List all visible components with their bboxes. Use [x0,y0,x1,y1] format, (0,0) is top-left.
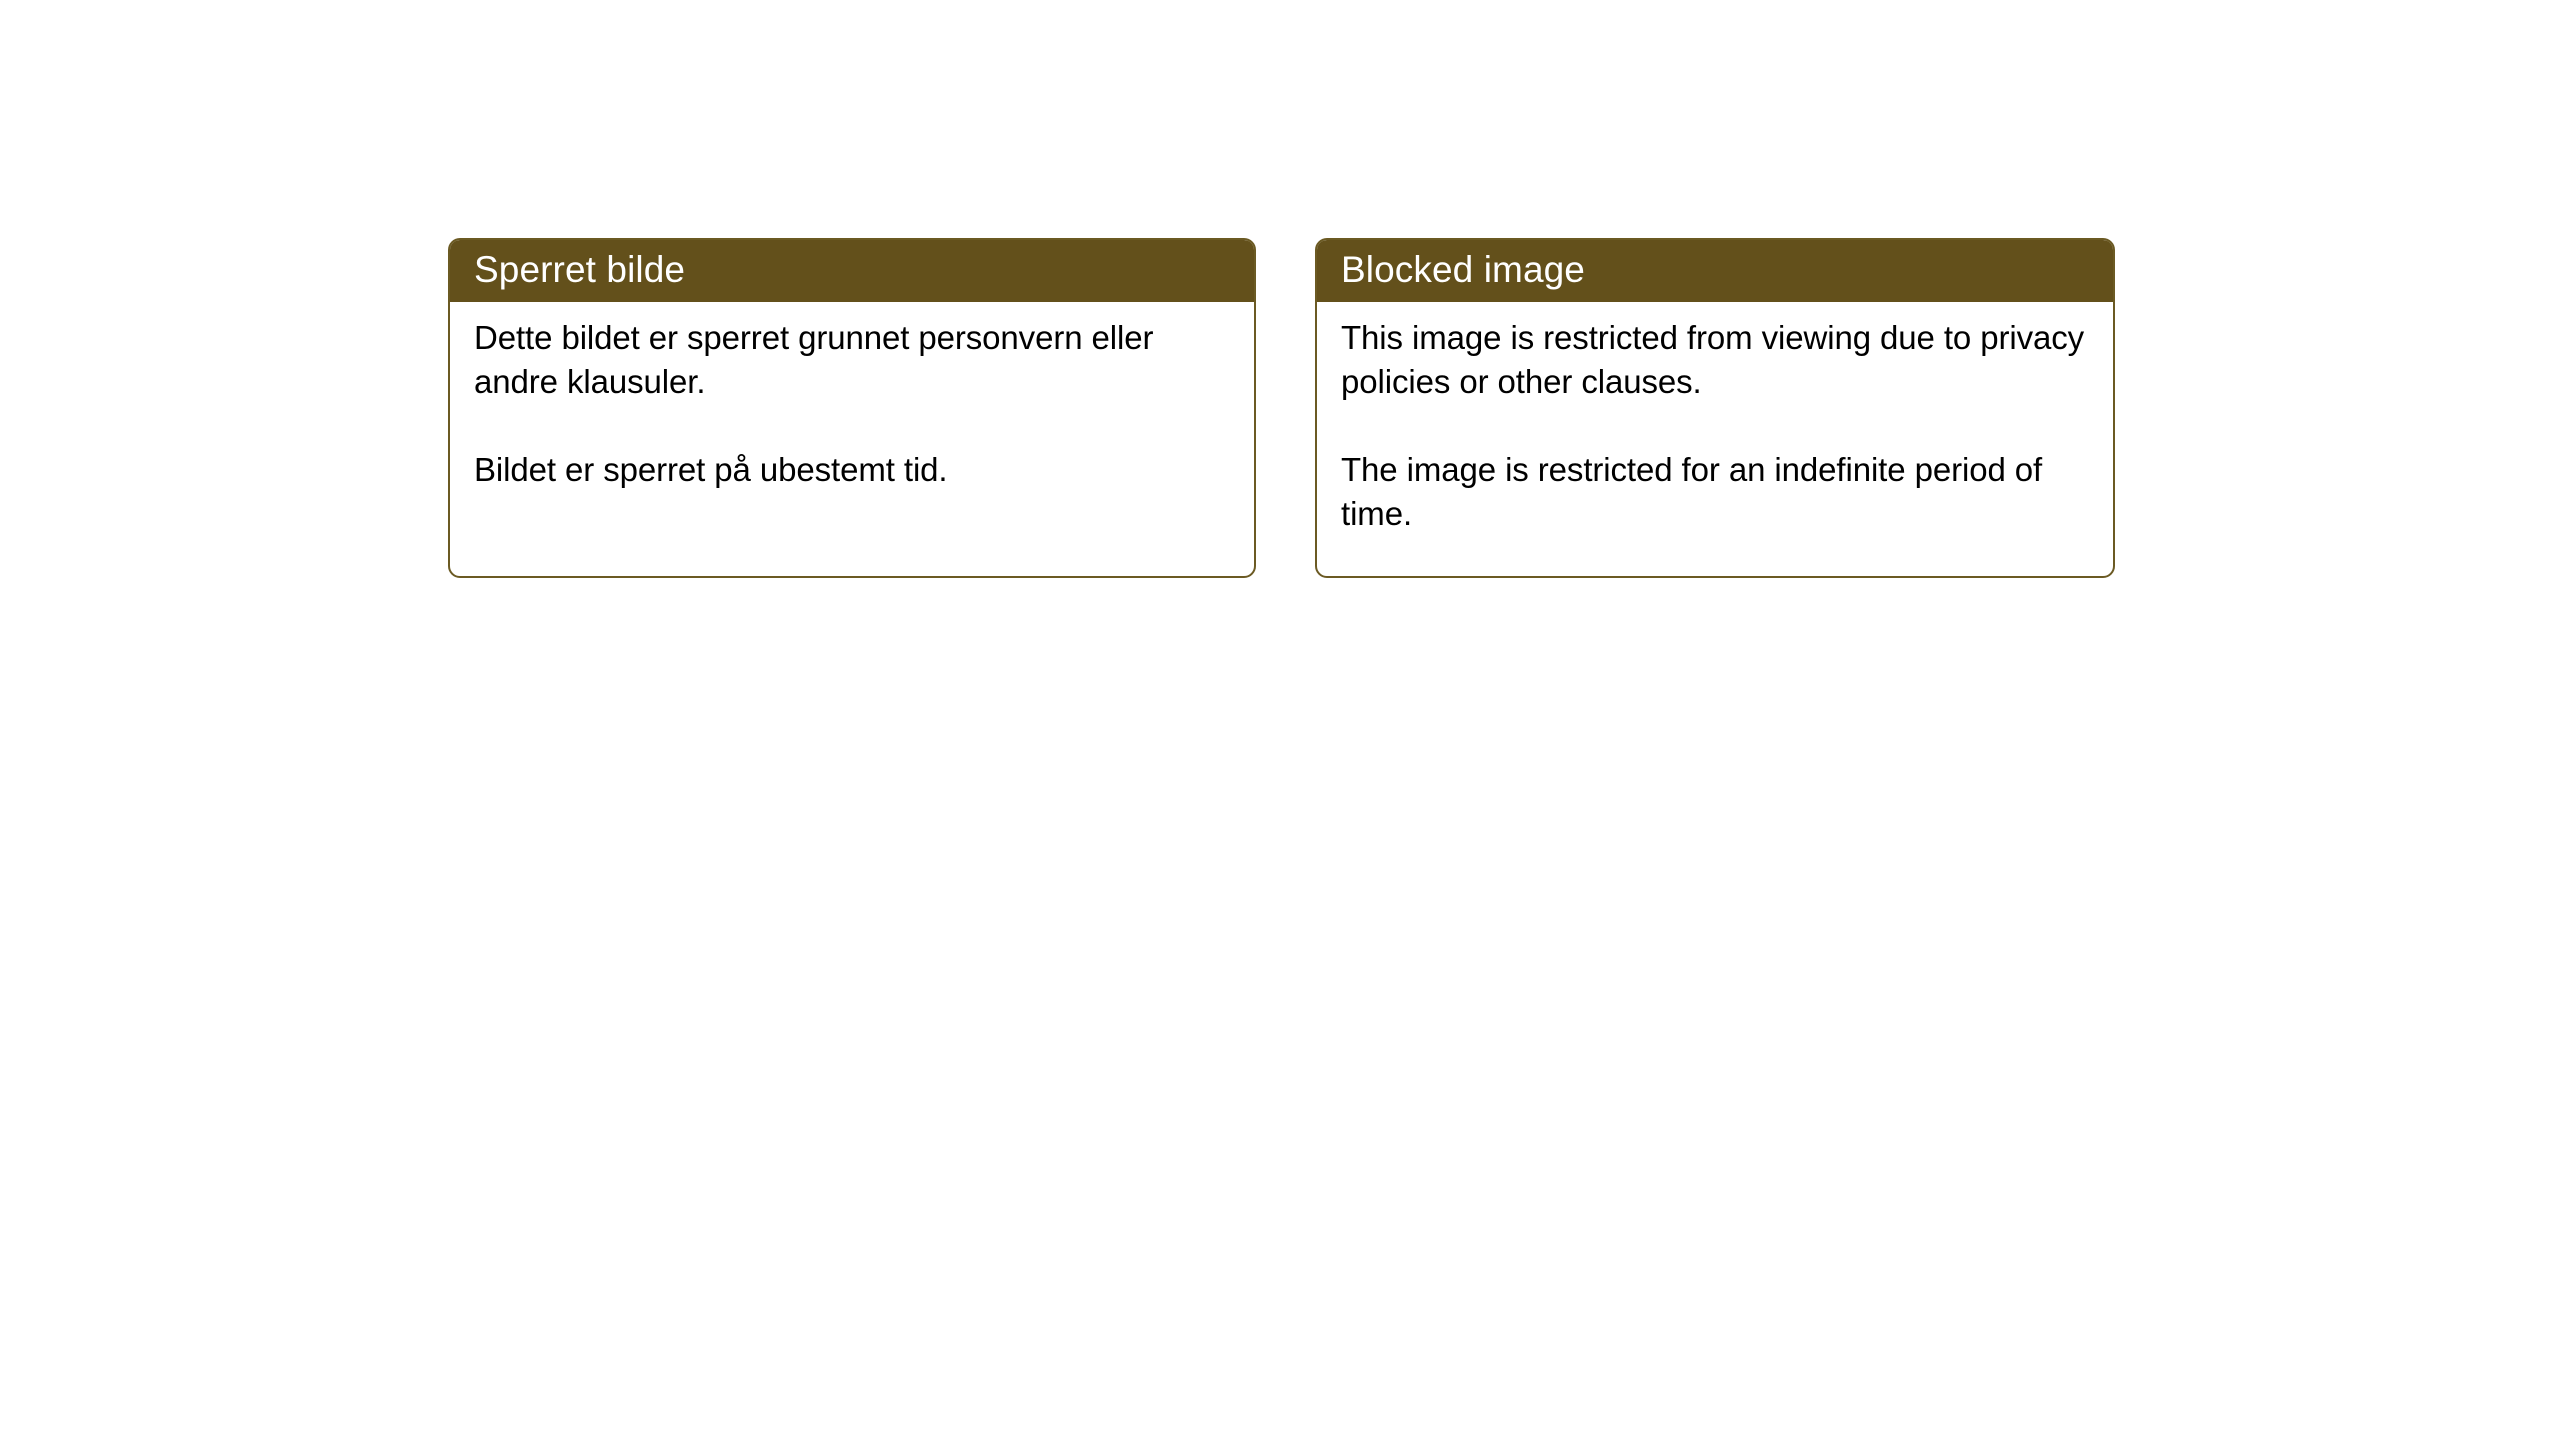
notice-body-en: This image is restricted from viewing du… [1317,302,2113,536]
page-root: Sperret bilde Dette bildet er sperret gr… [0,0,2560,1440]
blocked-image-notice-no: Sperret bilde Dette bildet er sperret gr… [448,238,1256,578]
notice-title-en: Blocked image [1341,248,1585,292]
notice-paragraph-duration-en: The image is restricted for an indefinit… [1341,448,2091,536]
notice-body-no: Dette bildet er sperret grunnet personve… [450,302,1254,492]
notice-title-no: Sperret bilde [474,248,685,292]
notice-header-en: Blocked image [1315,238,2115,302]
notice-paragraph-reason-en: This image is restricted from viewing du… [1341,316,2091,404]
notice-paragraph-duration-no: Bildet er sperret på ubestemt tid. [474,448,1232,492]
blocked-image-notice-en: Blocked image This image is restricted f… [1315,238,2115,578]
notice-header-no: Sperret bilde [448,238,1256,302]
notice-paragraph-reason-no: Dette bildet er sperret grunnet personve… [474,316,1232,404]
